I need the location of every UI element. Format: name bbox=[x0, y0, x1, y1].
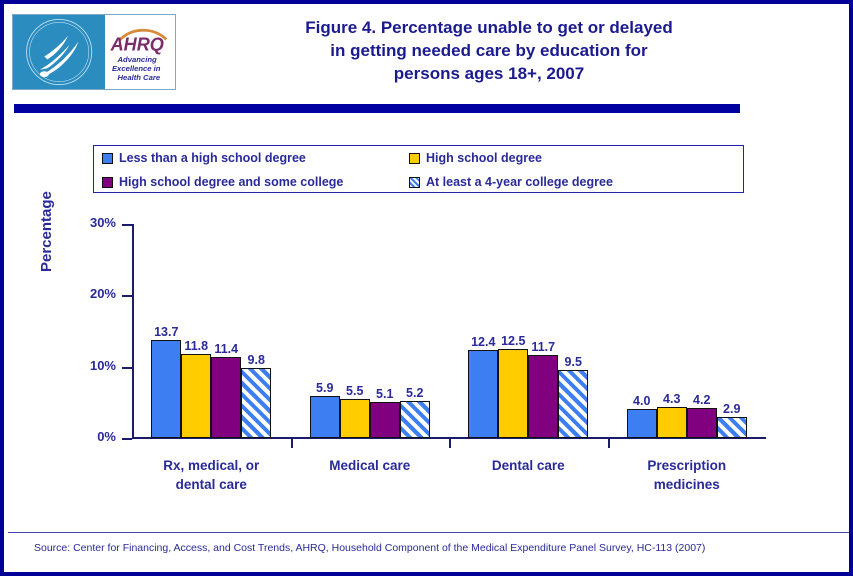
bar[interactable]: 12.4 bbox=[468, 350, 498, 438]
bar-value-label: 5.1 bbox=[376, 387, 393, 401]
y-axis-tick bbox=[122, 295, 132, 297]
x-axis-tick bbox=[608, 439, 610, 448]
bar[interactable]: 11.7 bbox=[528, 355, 558, 438]
x-axis-category-label: Dental care bbox=[449, 456, 608, 475]
y-axis-tick bbox=[122, 224, 132, 226]
bar-value-label: 4.3 bbox=[663, 392, 680, 406]
bar[interactable]: 5.9 bbox=[310, 396, 340, 438]
source-note: Source: Center for Financing, Access, an… bbox=[34, 542, 705, 554]
category-label-line: Dental care bbox=[449, 456, 608, 475]
footer-divider bbox=[8, 532, 849, 533]
bar[interactable]: 2.9 bbox=[717, 417, 747, 438]
bar-value-label: 9.8 bbox=[248, 353, 265, 367]
x-axis-category-label: Rx, medical, ordental care bbox=[132, 456, 291, 494]
y-axis-tick-label: 20% bbox=[76, 286, 116, 301]
bar-value-label: 2.9 bbox=[723, 402, 740, 416]
y-axis-line bbox=[132, 224, 134, 439]
category-label-line: dental care bbox=[132, 475, 291, 494]
x-axis-category-label: Prescriptionmedicines bbox=[608, 456, 767, 494]
y-axis-tick bbox=[122, 367, 132, 369]
bar-value-label: 5.2 bbox=[406, 386, 423, 400]
category-label-line: medicines bbox=[608, 475, 767, 494]
y-axis-tick-label: 10% bbox=[76, 358, 116, 373]
bar[interactable]: 4.2 bbox=[687, 408, 717, 438]
bar-value-label: 9.5 bbox=[565, 355, 582, 369]
bar-value-label: 11.4 bbox=[214, 342, 238, 356]
category-label-line: Prescription bbox=[608, 456, 767, 475]
bar-value-label: 4.2 bbox=[693, 393, 710, 407]
bar-value-label: 12.5 bbox=[501, 334, 525, 348]
bar[interactable]: 9.5 bbox=[558, 370, 588, 438]
bar[interactable]: 5.5 bbox=[340, 399, 370, 438]
y-axis-tick-label: 30% bbox=[76, 215, 116, 230]
bar-group: 12.412.511.79.5 bbox=[468, 224, 588, 438]
bar[interactable]: 9.8 bbox=[241, 368, 271, 438]
bar-value-label: 11.7 bbox=[531, 340, 555, 354]
bar-group: 13.711.811.49.8 bbox=[151, 224, 271, 438]
y-axis-tick-label: 0% bbox=[76, 429, 116, 444]
bar-value-label: 5.9 bbox=[316, 381, 333, 395]
category-label-line: Rx, medical, or bbox=[132, 456, 291, 475]
bar[interactable]: 11.8 bbox=[181, 354, 211, 438]
x-axis-category-label: Medical care bbox=[291, 456, 450, 475]
bar-value-label: 11.8 bbox=[184, 339, 208, 353]
y-axis-tick bbox=[122, 438, 132, 440]
category-label-line: Medical care bbox=[291, 456, 450, 475]
bar-value-label: 13.7 bbox=[154, 325, 178, 339]
bar[interactable]: 4.3 bbox=[657, 407, 687, 438]
bar-group: 4.04.34.22.9 bbox=[627, 224, 747, 438]
bar[interactable]: 5.2 bbox=[400, 401, 430, 438]
bar[interactable]: 5.1 bbox=[370, 402, 400, 438]
bar-value-label: 12.4 bbox=[471, 335, 495, 349]
bar-chart: Percentage 0%10%20%30% 13.711.811.49.85.… bbox=[4, 4, 853, 580]
bar[interactable]: 4.0 bbox=[627, 409, 657, 438]
x-axis-tick bbox=[449, 439, 451, 448]
x-axis-tick bbox=[291, 439, 293, 448]
y-axis-title: Percentage bbox=[38, 191, 55, 272]
bar[interactable]: 13.7 bbox=[151, 340, 181, 438]
bar[interactable]: 11.4 bbox=[211, 357, 241, 438]
figure-page: AHRQ Advancing Excellence in Health Care… bbox=[0, 0, 853, 576]
bar-value-label: 5.5 bbox=[346, 384, 363, 398]
bar-value-label: 4.0 bbox=[633, 394, 650, 408]
bar[interactable]: 12.5 bbox=[498, 349, 528, 438]
bar-group: 5.95.55.15.2 bbox=[310, 224, 430, 438]
